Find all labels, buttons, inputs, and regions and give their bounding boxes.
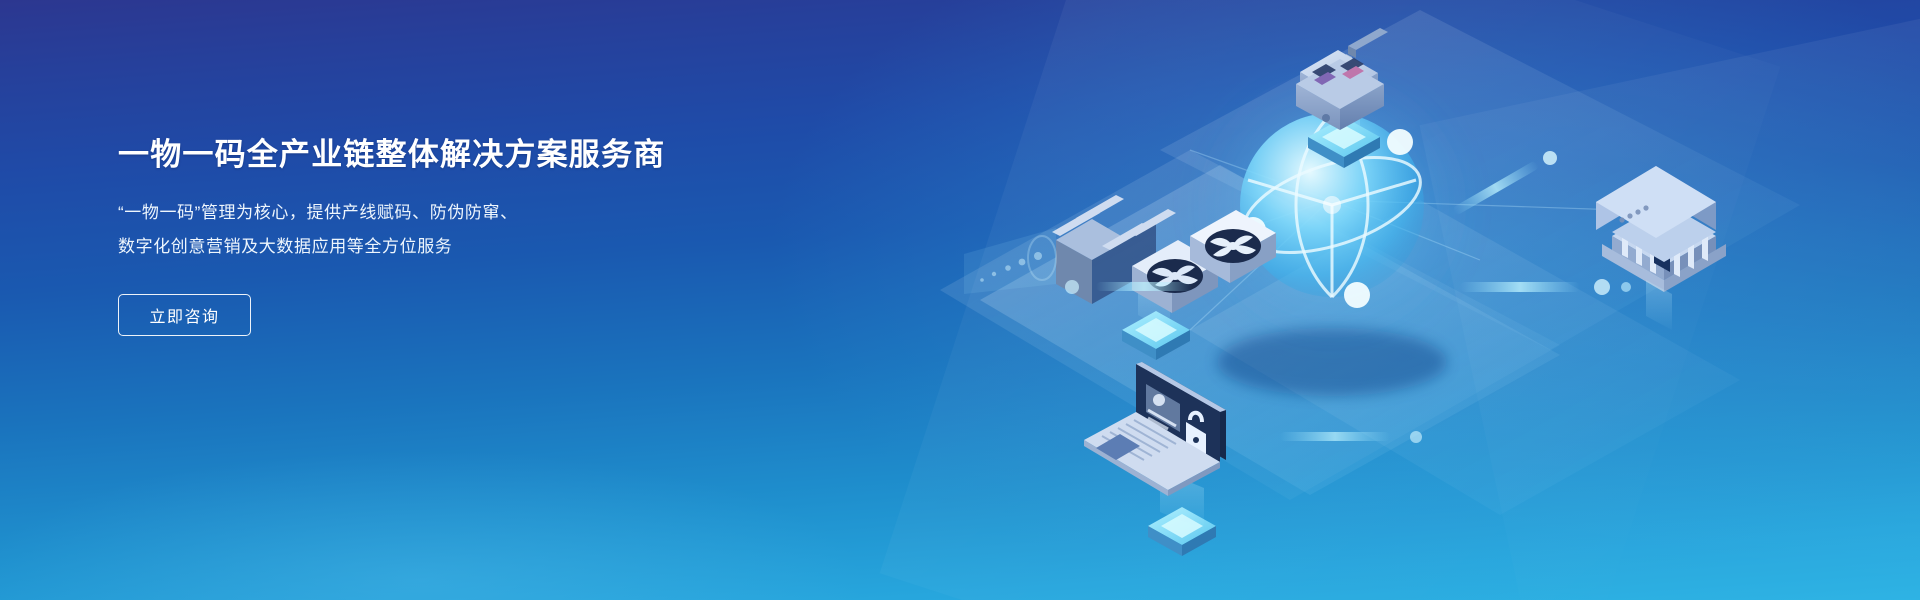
subtitle-line-1: “一物一码”管理为核心，提供产线赋码、防伪防窜、 <box>118 196 758 230</box>
hero-subtitle: “一物一码”管理为核心，提供产线赋码、防伪防窜、 数字化创意营销及大数据应用等全… <box>118 196 758 264</box>
hero-copy: 一物一码全产业链整体解决方案服务商 “一物一码”管理为核心，提供产线赋码、防伪防… <box>118 136 758 336</box>
page-title: 一物一码全产业链整体解决方案服务商 <box>118 136 758 175</box>
hero-banner: 一物一码全产业链整体解决方案服务商 “一物一码”管理为核心，提供产线赋码、防伪防… <box>0 0 1920 600</box>
consult-now-button[interactable]: 立即咨询 <box>118 294 251 336</box>
iot-network-illustration <box>860 0 1920 600</box>
subtitle-line-2: 数字化创意营销及大数据应用等全方位服务 <box>118 230 758 264</box>
